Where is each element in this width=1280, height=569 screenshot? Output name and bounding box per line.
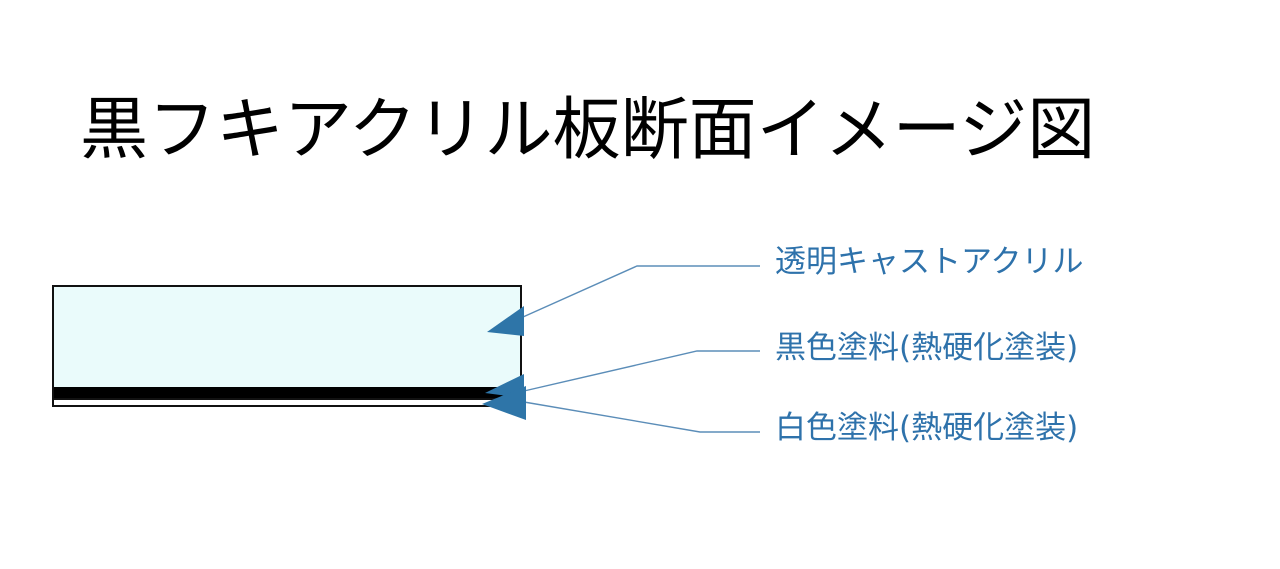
leader-line-black-paint (524, 351, 760, 391)
leader-line-white-paint (524, 402, 760, 432)
callout-label-white-paint: 白色塗料(熱硬化塗装) (775, 413, 1078, 444)
layer-clear-acrylic (52, 285, 522, 389)
diagram-canvas: 黒フキアクリル板断面イメージ図 透明キャストアクリル 黒色塗料(熱硬化塗装) 白… (0, 0, 1280, 569)
leader-line-clear-acrylic (523, 266, 760, 317)
page-title: 黒フキアクリル板断面イメージ図 (80, 97, 1095, 165)
callout-label-black-paint: 黒色塗料(熱硬化塗装) (775, 333, 1078, 364)
acrylic-sheet-cross-section (52, 285, 522, 407)
layer-white-paint (52, 398, 522, 407)
layer-black-paint (52, 387, 522, 398)
callout-label-clear-acrylic: 透明キャストアクリル (775, 247, 1083, 278)
